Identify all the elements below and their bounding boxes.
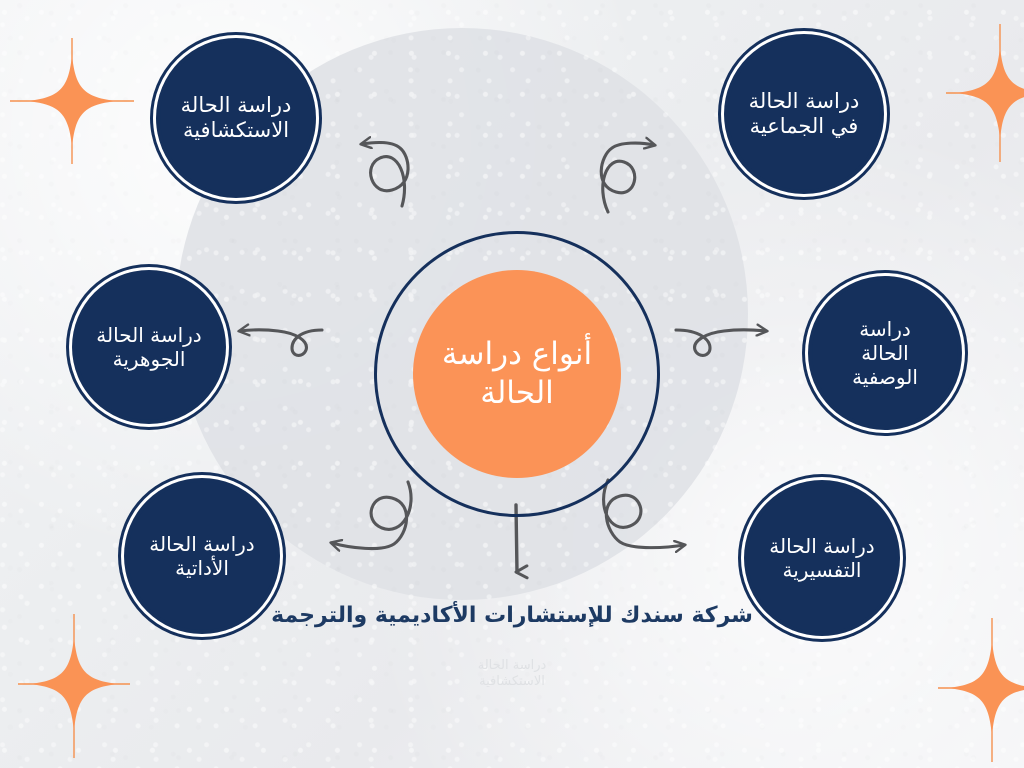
center-bubble[interactable]: أنواع دراسة الحالة: [413, 270, 621, 478]
node-intrinsic[interactable]: دراسة الحالة الجوهرية: [76, 274, 222, 420]
company-caption: شركة سندك للإستشارات الأكاديمية والترجمة: [0, 603, 1024, 628]
node-label: دراسة الحالة في الجماعية: [743, 89, 866, 139]
sparkle-icon-bottom-right: [936, 618, 1024, 764]
sparkle-icon-top-left: [8, 36, 136, 166]
watermark-text: دراسة الحالة الاستكشافية: [0, 658, 1024, 691]
page-title: أنواع دراسة الحالة: [432, 335, 602, 413]
node-exploratory[interactable]: دراسة الحالة الاستكشافية: [160, 42, 312, 194]
node-label: دراسة الحالة الجوهرية: [90, 323, 207, 371]
node-label: دراسة الحالة الاستكشافية: [175, 93, 298, 143]
node-label: دراسة الحالة الأداتية: [143, 532, 260, 580]
node-label: دراسة الحالة الوصفية: [846, 317, 924, 389]
sparkle-icon-top-right: [944, 22, 1024, 164]
node-label: دراسة الحالة التفسيرية: [763, 534, 880, 582]
infographic-canvas: دراسة الحالة الاستكشافية دراسة الحالة في…: [0, 0, 1024, 768]
node-descriptive[interactable]: دراسة الحالة الوصفية: [812, 280, 958, 426]
node-collective[interactable]: دراسة الحالة في الجماعية: [728, 38, 880, 190]
